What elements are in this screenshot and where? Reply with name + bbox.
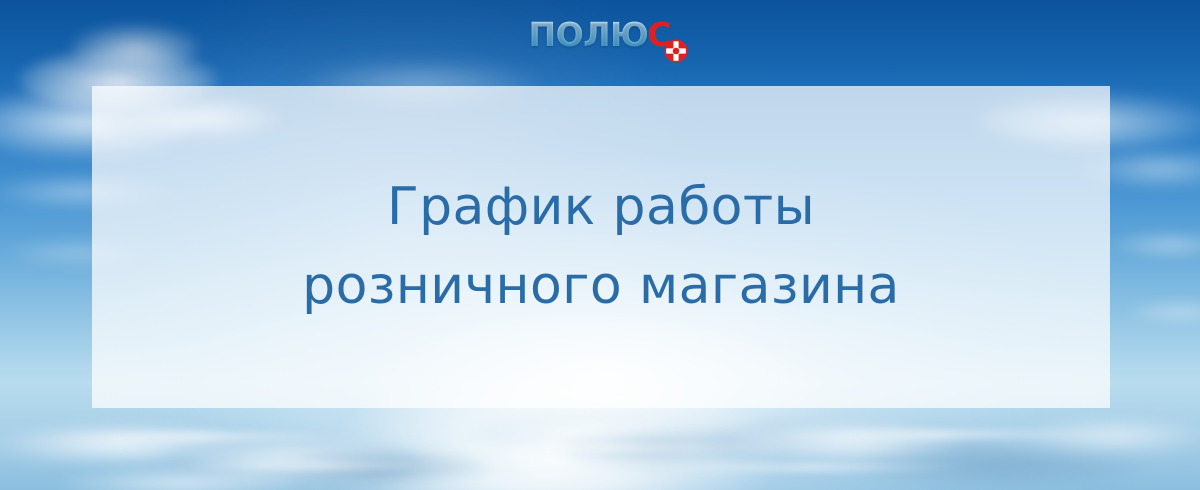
logo[interactable]: ПОЛЮ С xyxy=(0,18,1200,62)
cloud-streak xyxy=(760,430,1120,439)
cloud-streak xyxy=(40,432,360,441)
page-title-line-1: График работы xyxy=(132,168,1070,247)
cloud-streak xyxy=(420,444,800,452)
cloud-streak xyxy=(170,462,470,469)
banner: ПОЛЮ С График работы розничного магазина xyxy=(0,0,1200,490)
page-title-line-2: розничного магазина xyxy=(132,247,1070,326)
logo-inner: ПОЛЮ С xyxy=(528,18,671,62)
cloud-streak xyxy=(640,464,980,471)
content-panel: График работы розничного магазина xyxy=(92,86,1110,408)
medical-cross-wheel-icon xyxy=(663,38,689,64)
logo-wordmark-blue: ПОЛЮ xyxy=(528,18,648,51)
page-title: График работы розничного магазина xyxy=(92,168,1110,326)
